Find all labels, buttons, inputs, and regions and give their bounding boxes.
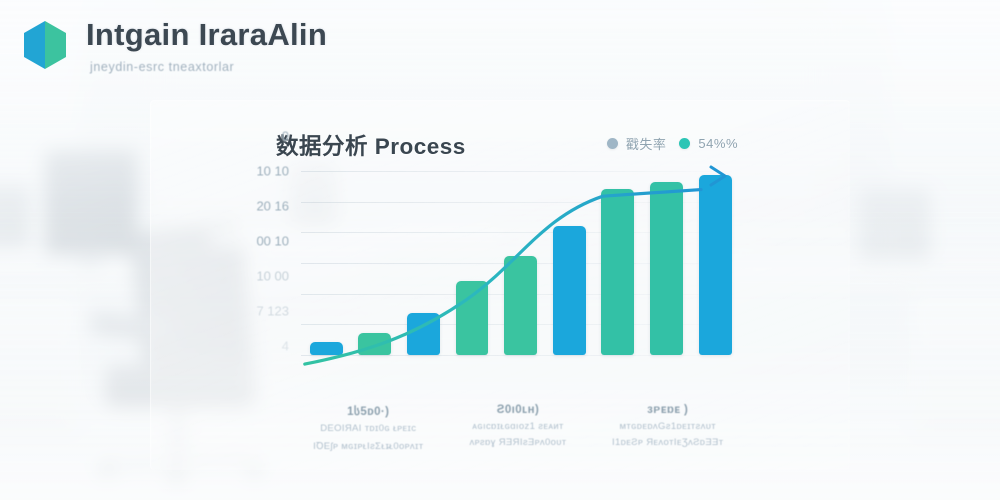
caption-title: Ƨ0ı0ʟʜ) bbox=[451, 404, 586, 416]
chart-card: 数据分析 Process 戳失率 54%% 0 10 10 20 16 00 1… bbox=[150, 100, 850, 470]
brand-title: Intgain IraraAlin bbox=[86, 18, 327, 51]
caption-line: ᴀɢıᴄɒɪᴌɢɑıᴏᴢ1 ƨᴇᴀᴎᴛ bbox=[451, 421, 586, 432]
trend-line bbox=[301, 149, 735, 394]
y-axis-tick-label: 00 10 bbox=[256, 233, 289, 248]
caption-line: ᴍᴛɢᴅᴇᴅʌGƨ1ᴅᴇɪᴛƨʌᴜᴛ bbox=[600, 421, 735, 432]
brand-subtitle: jneydin-esrc tneaxtorlar bbox=[90, 60, 327, 74]
caption-line: ʌᴘƨɒɣ ЯƎЯIƨƎᴘʌ0ᴏᴜᴛ bbox=[451, 437, 586, 448]
chart-plot-area: 0 10 10 20 16 00 10 10 00 7 123 4 bbox=[301, 171, 735, 355]
y-axis-tick-label: 10 10 bbox=[256, 164, 289, 179]
hexagon-logo-icon bbox=[22, 20, 68, 70]
caption-title: ᴈᴘᴇɒᴇ ) bbox=[600, 404, 735, 416]
y-axis-tick-label: 7 123 bbox=[256, 303, 289, 318]
caption-line: IꝹEʃᴘ ᴍɢɪᴘᴌIƨƩᴌɪ̴ᴌ0ᴏᴘʌɪᴛ bbox=[301, 439, 436, 452]
caption-block: 1ს5ᴅ0·) DEOIЯAI ᴛᴅɪ0ɢ ᴌᴘᴇɪᴄ IꝹEʃᴘ ᴍɢɪᴘᴌI… bbox=[301, 404, 436, 452]
brand-header: Intgain IraraAlin jneydin-esrc tneaxtorl… bbox=[22, 18, 327, 74]
y-axis-tick-label: 20 16 bbox=[256, 198, 289, 213]
brand-text-block: Intgain IraraAlin jneydin-esrc tneaxtorl… bbox=[86, 18, 327, 74]
legend-dot-icon bbox=[679, 138, 690, 149]
legend-dot-icon bbox=[607, 138, 618, 149]
caption-row: 1ს5ᴅ0·) DEOIЯAI ᴛᴅɪ0ɢ ᴌᴘᴇɪᴄ IꝹEʃᴘ ᴍɢɪᴘᴌI… bbox=[301, 404, 735, 452]
caption-line: DEOIЯAI ᴛᴅɪ0ɢ ᴌᴘᴇɪᴄ bbox=[301, 423, 436, 434]
caption-line: I1ᴅᴇƧᴘ ЯᴇʌᴏᴛIᴇƷʌƧᴅƎƎᴛ bbox=[600, 437, 735, 448]
caption-block: Ƨ0ı0ʟʜ) ᴀɢıᴄɒɪᴌɢɑıᴏᴢ1 ƨᴇᴀᴎᴛ ʌᴘƨɒɣ ЯƎЯIƨƎ… bbox=[451, 404, 586, 452]
trend-arrowhead-icon bbox=[705, 165, 739, 199]
y-axis-tick-label: 4 bbox=[282, 338, 289, 353]
y-axis-tick-label: 0 bbox=[282, 129, 289, 144]
y-axis-tick-label: 10 00 bbox=[256, 268, 289, 283]
caption-title: 1ს5ᴅ0·) bbox=[301, 404, 436, 418]
caption-block: ᴈᴘᴇɒᴇ ) ᴍᴛɢᴅᴇᴅʌGƨ1ᴅᴇɪᴛƨʌᴜᴛ I1ᴅᴇƧᴘ ЯᴇʌᴏᴛI… bbox=[600, 404, 735, 452]
